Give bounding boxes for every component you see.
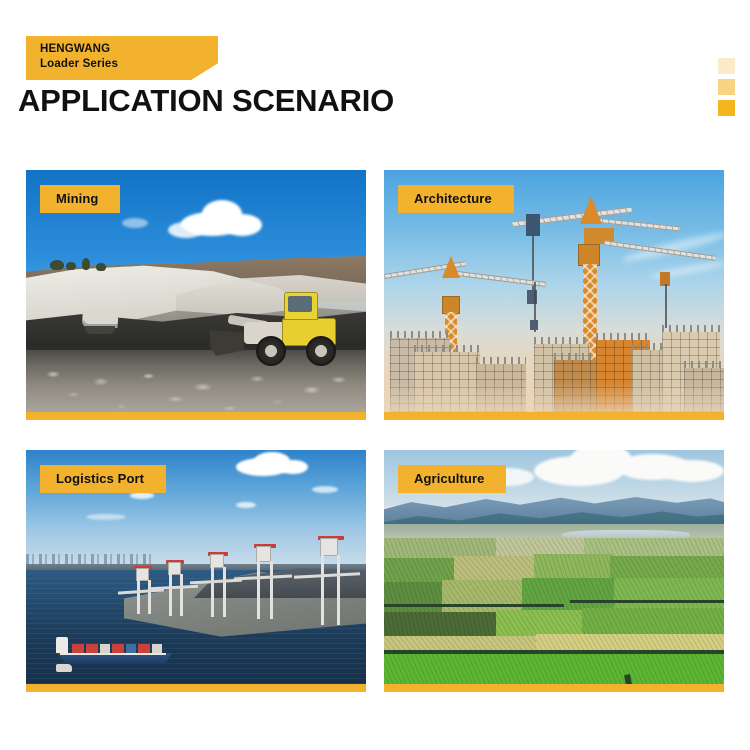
gantry-leg bbox=[257, 561, 260, 619]
decorative-squares bbox=[718, 58, 735, 121]
container bbox=[72, 644, 84, 653]
brand-name: HENGWANG bbox=[40, 42, 218, 57]
scenario-card-agriculture[interactable]: Agriculture bbox=[384, 450, 724, 692]
container bbox=[86, 644, 98, 653]
scenario-card-architecture[interactable]: Architecture bbox=[384, 170, 724, 420]
gantry-leg bbox=[223, 567, 226, 617]
field bbox=[442, 580, 526, 614]
card-accent-bar bbox=[26, 412, 366, 420]
card-label-mining: Mining bbox=[40, 185, 120, 213]
bush-icon bbox=[96, 263, 106, 271]
cloud-icon bbox=[660, 460, 724, 482]
container bbox=[100, 644, 110, 653]
card-label-logistics-port: Logistics Port bbox=[40, 465, 166, 493]
loader-wheel bbox=[256, 336, 286, 366]
field bbox=[614, 578, 724, 612]
gantry-boom bbox=[294, 572, 360, 578]
gantry-machine-house bbox=[210, 554, 224, 568]
bush-icon bbox=[66, 262, 76, 270]
square-medium-icon bbox=[718, 79, 735, 95]
horizon-haze bbox=[384, 382, 724, 412]
gantry-leg bbox=[321, 555, 324, 625]
gantry-leg bbox=[211, 567, 214, 617]
hedgerow bbox=[384, 604, 564, 607]
brand-series: Loader Series bbox=[40, 57, 218, 72]
bush-icon bbox=[82, 258, 90, 270]
card-accent-bar bbox=[384, 684, 724, 692]
field bbox=[610, 556, 724, 580]
square-light-icon bbox=[718, 58, 735, 74]
container bbox=[152, 644, 162, 653]
gantry-machine-house bbox=[256, 546, 271, 562]
container bbox=[112, 644, 124, 653]
farmland-patchwork bbox=[384, 538, 724, 684]
square-solid-icon bbox=[718, 100, 735, 116]
cloud-icon bbox=[222, 214, 262, 236]
rubble-texture bbox=[26, 366, 366, 412]
container-ship-icon bbox=[54, 636, 174, 664]
loader-cab-window bbox=[288, 296, 312, 312]
gantry-leg bbox=[180, 574, 183, 616]
gantry-boom bbox=[234, 574, 292, 580]
gantry-leg bbox=[137, 580, 140, 614]
application-scenario-page: HENGWANG Loader Series APPLICATION SCENA… bbox=[0, 0, 750, 750]
scenario-card-mining[interactable]: Mining bbox=[26, 170, 366, 420]
crane-jib bbox=[604, 240, 716, 261]
ship-bridge bbox=[56, 637, 68, 653]
gantry-boom bbox=[150, 585, 198, 591]
hedgerow bbox=[384, 650, 724, 654]
gantry-leg bbox=[270, 561, 273, 619]
haul-truck-icon bbox=[82, 310, 122, 336]
gantry-leg bbox=[148, 580, 151, 614]
loader-wheel bbox=[306, 336, 336, 366]
scenario-card-logistics-port[interactable]: Logistics Port bbox=[26, 450, 366, 692]
ship-stripe bbox=[60, 653, 166, 655]
cloud-icon bbox=[122, 218, 148, 228]
card-accent-bar bbox=[384, 412, 724, 420]
field bbox=[384, 654, 724, 684]
gantry-leg bbox=[337, 555, 340, 625]
hedgerow bbox=[570, 600, 724, 603]
field bbox=[384, 582, 448, 616]
brand-badge: HENGWANG Loader Series bbox=[26, 36, 218, 80]
gantry-machine-house bbox=[320, 538, 338, 556]
scenario-card-grid: Mining bbox=[26, 170, 724, 692]
field bbox=[534, 554, 614, 580]
card-label-agriculture: Agriculture bbox=[398, 465, 506, 493]
container bbox=[138, 644, 150, 653]
container bbox=[126, 644, 136, 653]
card-label-architecture: Architecture bbox=[398, 185, 514, 213]
page-title: APPLICATION SCENARIO bbox=[18, 83, 394, 119]
gantry-leg bbox=[169, 574, 172, 616]
wheel-loader-icon bbox=[210, 292, 342, 370]
bush-icon bbox=[50, 260, 64, 270]
card-accent-bar bbox=[26, 684, 366, 692]
truck-chassis bbox=[85, 326, 115, 334]
tugboat-icon bbox=[56, 664, 72, 672]
loader-bucket bbox=[210, 330, 244, 356]
